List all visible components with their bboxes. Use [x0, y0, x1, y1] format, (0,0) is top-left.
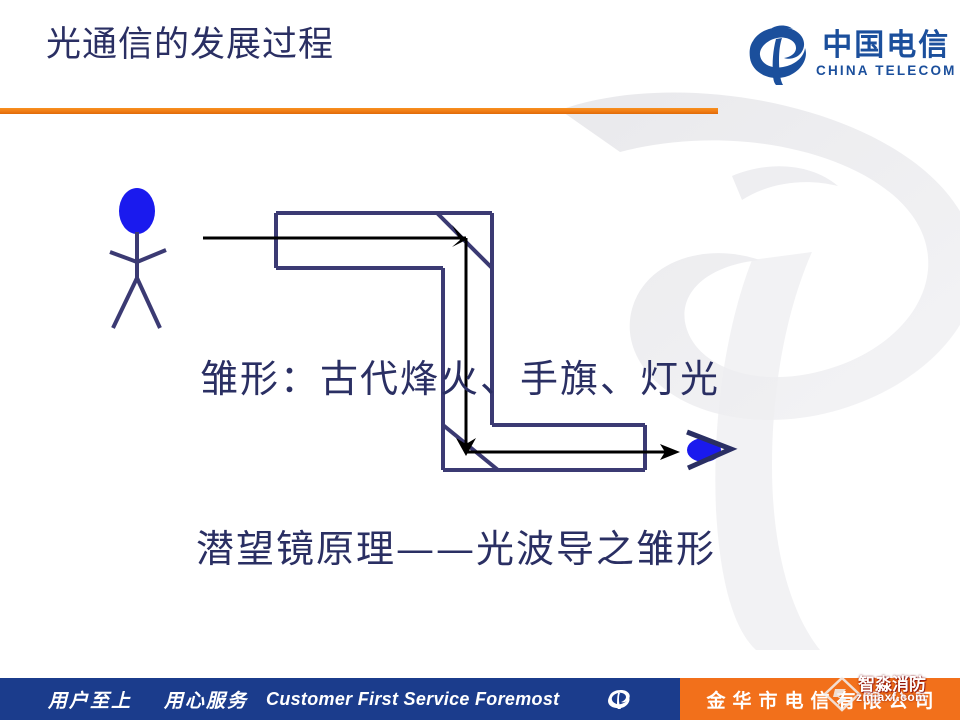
china-telecom-swoosh-mark [746, 22, 812, 86]
china-telecom-mark-small [607, 688, 633, 710]
footer-company-bar: 金华市电信有限公司 [680, 678, 960, 720]
china-telecom-logo: 中国电信 CHINA TELECOM [746, 18, 946, 90]
eye-symbol [687, 432, 731, 468]
caption-periscope-principle: 潜望镜原理——光波导之雏形 [196, 518, 716, 573]
periscope-tube-outline [276, 213, 645, 470]
logo-english-text: CHINA TELECOM [816, 63, 957, 78]
footer-slogan-cn-2: 用心服务 [164, 686, 248, 713]
footer-slogan-en: Customer First Service Foremost [266, 689, 559, 710]
light-ray-path [203, 238, 676, 452]
caption-origins: 雏形：古代烽火、手旗、灯光 [200, 348, 720, 403]
title-divider-rule [0, 108, 718, 114]
arrowhead-at-top-mirror [452, 225, 466, 247]
footer-company-name: 金华市电信有限公司 [699, 686, 940, 713]
page-title: 光通信的发展过程 [46, 16, 334, 67]
footer-slogan-cn-1: 用户至上 [48, 686, 132, 713]
slide-root: 光通信的发展过程 中国电信 CHINA TELECOM [0, 0, 960, 720]
slide-footer: 用户至上 用心服务 Customer First Service Foremos… [0, 678, 960, 720]
logo-chinese-text: 中国电信 [822, 30, 950, 62]
stick-figure-person [110, 188, 166, 328]
footer-slogan-bar: 用户至上 用心服务 Customer First Service Foremos… [0, 678, 680, 720]
